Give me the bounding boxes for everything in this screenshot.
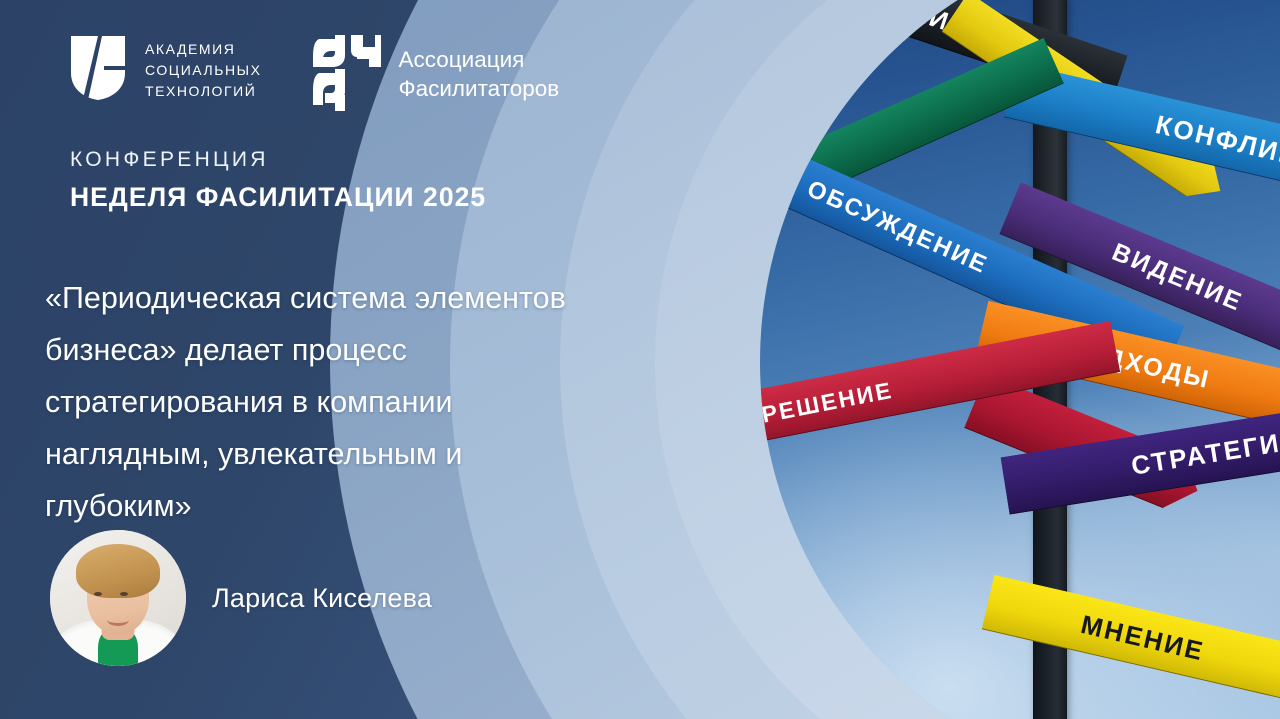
conference-quote-slide: ПРАКТИКИ КОНФЛИКТ ОБСУЖДЕНИЕ ВИДЕНИЕ ПОД… — [0, 0, 1280, 719]
association-logo: Ассоциация Фасилитаторов — [313, 33, 559, 116]
association-glyph-icon — [313, 33, 381, 116]
association-logo-text: Ассоциация Фасилитаторов — [398, 46, 559, 103]
signpost-photo: ПРАКТИКИ КОНФЛИКТ ОБСУЖДЕНИЕ ВИДЕНИЕ ПОД… — [760, 0, 1280, 719]
speaker-name: Лариса Киселева — [212, 583, 432, 614]
academy-line-2: СОЦИАЛЬНЫХ — [145, 60, 261, 81]
quote-line: стратегирования в компании — [45, 376, 725, 428]
quote-line: глубоким» — [45, 480, 725, 532]
avatar-eye-left — [94, 592, 102, 596]
quote-line: бизнеса» делает процесс — [45, 324, 725, 376]
quote-text: «Периодическая система элементов бизнеса… — [45, 272, 725, 532]
academy-logo: АКАДЕМИЯ СОЦИАЛЬНЫХ ТЕХНОЛОГИЙ — [68, 33, 261, 108]
speaker-block: Лариса Киселева — [50, 530, 432, 666]
quote-line: наглядным, увлекательным и — [45, 428, 725, 480]
avatar-smile — [107, 614, 129, 626]
avatar-hair — [76, 544, 160, 598]
logo-row: АКАДЕМИЯ СОЦИАЛЬНЫХ ТЕХНОЛОГИЙ Ассоциаци… — [68, 33, 559, 116]
academy-line-1: АКАДЕМИЯ — [145, 39, 261, 60]
academy-line-3: ТЕХНОЛОГИЙ — [145, 81, 261, 102]
association-line-1: Ассоциация — [398, 46, 559, 74]
shield-logo-icon — [68, 33, 128, 108]
academy-logo-text: АКАДЕМИЯ СОЦИАЛЬНЫХ ТЕХНОЛОГИЙ — [145, 39, 261, 102]
association-line-2: Фасилитаторов — [398, 75, 559, 103]
avatar-eye-right — [120, 592, 128, 596]
conference-title: НЕДЕЛЯ ФАСИЛИТАЦИИ 2025 — [70, 182, 486, 213]
conference-kicker: КОНФЕРЕНЦИЯ — [70, 148, 486, 172]
quote-line: «Периодическая система элементов — [45, 272, 725, 324]
conference-heading: КОНФЕРЕНЦИЯ НЕДЕЛЯ ФАСИЛИТАЦИИ 2025 — [70, 148, 486, 213]
avatar — [50, 530, 186, 666]
